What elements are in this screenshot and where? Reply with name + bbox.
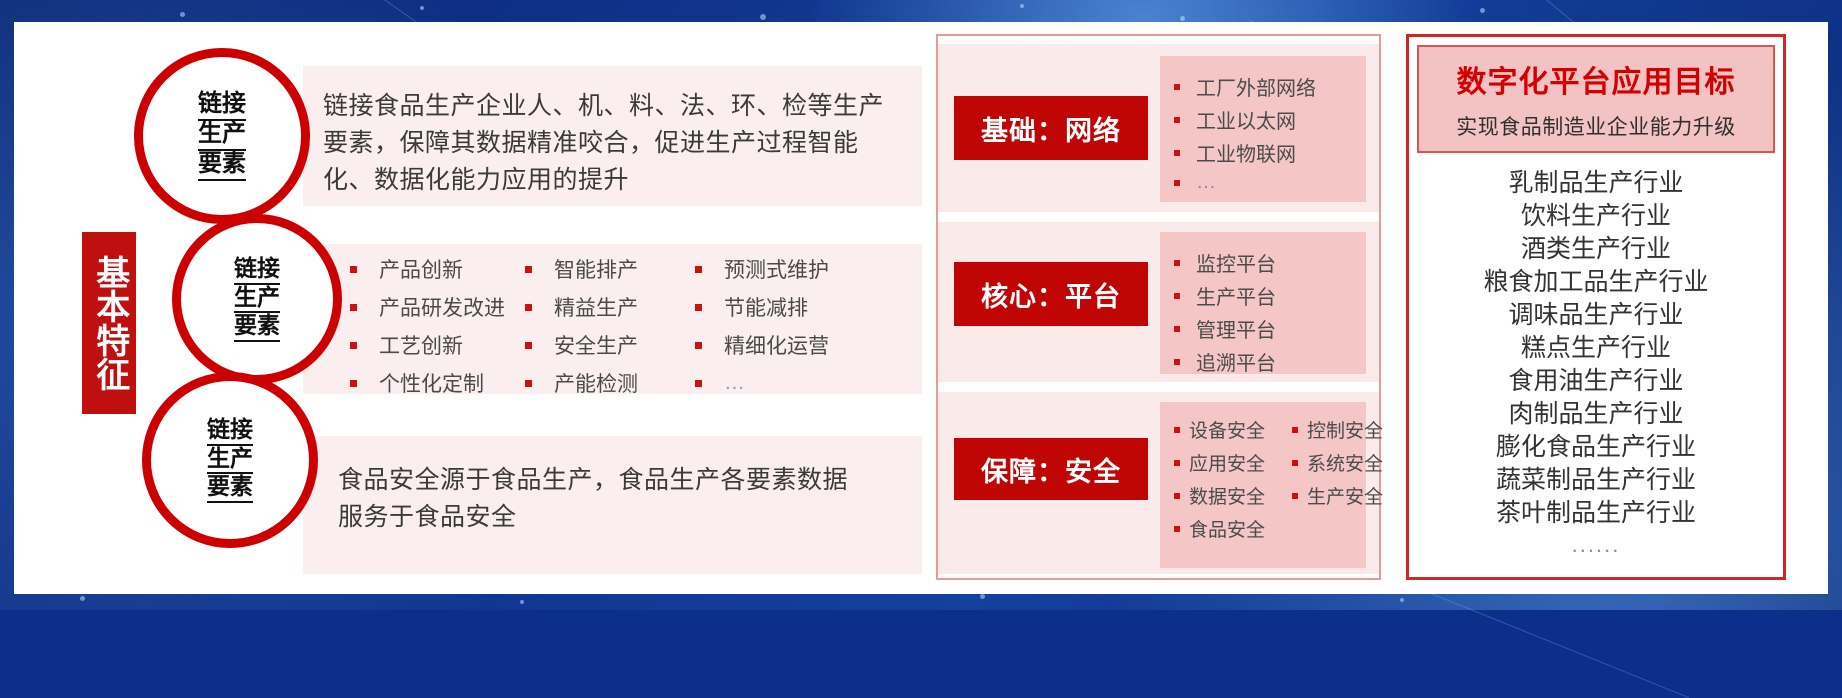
circle-badge-3-line-1: 链接	[207, 417, 253, 446]
list-item: 膨化食品生产行业	[1496, 431, 1696, 464]
circle-badge-1: 链接 生产 要素	[134, 48, 310, 224]
list-item: 生产平台	[1174, 281, 1358, 310]
list-item: 应用安全	[1174, 449, 1292, 476]
list-item-label: 产品研发改进	[379, 292, 505, 322]
bullet-dot-icon	[1174, 326, 1180, 332]
bullet-dot-icon	[350, 342, 357, 349]
list-item: 蔬菜制品生产行业	[1496, 464, 1696, 497]
list-item-label: 数据安全	[1189, 482, 1265, 509]
list-item: 数据安全	[1174, 482, 1292, 509]
bullet-dot-icon	[350, 266, 357, 273]
bullet-dot-icon	[350, 304, 357, 311]
bullet-dot-icon	[695, 380, 702, 387]
list-item: 精益生产	[525, 292, 695, 322]
list-item: 控制安全	[1292, 416, 1400, 443]
paragraph-production-elements: 链接食品生产企业人、机、料、法、环、检等生产要素，保障其数据精准咬合，促进生产过…	[323, 88, 903, 199]
circle-badge-3: 链接 生产 要素	[142, 372, 318, 548]
list-item: 精细化运营	[695, 330, 880, 360]
bullet-dot-icon	[1174, 359, 1180, 365]
bullet-dot-icon	[1174, 84, 1180, 90]
circle-badge-2-line-2: 生产	[234, 285, 280, 314]
bullet-dot-icon	[525, 304, 532, 311]
page-title: 数字化平台应用目标	[1457, 57, 1736, 101]
list-item-label: 节能减排	[724, 292, 808, 322]
circle-badge-1-line-2: 生产	[198, 121, 246, 151]
bullet-dot-icon	[1292, 460, 1298, 466]
list-item: 管理平台	[1174, 314, 1358, 343]
label-platform: 核心：平台	[954, 262, 1148, 326]
label-security: 保障：安全	[954, 438, 1148, 500]
list-item: 乳制品生产行业	[1508, 167, 1683, 200]
list-item: 调味品生产行业	[1508, 299, 1683, 332]
paragraph-food-safety: 食品安全源于食品生产，食品生产各要素数据服务于食品安全	[338, 462, 858, 536]
application-goal-subtitle: 实现食品制造业企业能力升级	[1456, 111, 1736, 141]
bullet-dot-icon	[695, 304, 702, 311]
network-item-list: 工厂外部网络 工业以太网 工业物联网 …	[1160, 56, 1366, 202]
security-item-list: 设备安全 控制安全 应用安全 系统安全 数据安全 生产安全 食品安全	[1160, 402, 1366, 568]
bullet-dot-icon	[525, 380, 532, 387]
industry-list: 乳制品生产行业 饮料生产行业 酒类生产行业 粮食加工品生产行业 调味品生产行业 …	[1417, 161, 1775, 565]
list-item-label: 产能检测	[554, 368, 638, 398]
capability-bullet-grid: 产品创新 智能排产 预测式维护 产品研发改进 精益生产 节能减排 工艺创新 安全…	[350, 254, 910, 398]
circle-badge-3-line-2: 生产	[207, 446, 253, 475]
list-item-label: 追溯平台	[1196, 347, 1276, 376]
bullet-dot-icon	[1292, 493, 1298, 499]
list-item-label: 精益生产	[554, 292, 638, 322]
list-item: 安全生产	[525, 330, 695, 360]
bullet-dot-icon	[1174, 526, 1180, 532]
list-item: 酒类生产行业	[1521, 233, 1671, 266]
list-item-label: 系统安全	[1307, 449, 1383, 476]
list-item-label: 预测式维护	[724, 254, 829, 284]
list-item-label: 工厂外部网络	[1196, 72, 1316, 101]
circle-badge-1-line-3: 要素	[198, 151, 246, 181]
list-item-label: 生产安全	[1307, 482, 1383, 509]
list-item: 粮食加工品生产行业	[1483, 266, 1708, 299]
list-item-label: 控制安全	[1307, 416, 1383, 443]
list-item: 追溯平台	[1174, 347, 1358, 376]
list-item: 生产安全	[1292, 482, 1400, 509]
bullet-dot-icon	[695, 342, 702, 349]
list-item-label: 食品安全	[1189, 515, 1265, 542]
list-item-label: 安全生产	[554, 330, 638, 360]
list-item: 产能检测	[525, 368, 695, 398]
list-item: 食品安全	[1174, 515, 1292, 542]
list-item-label: 设备安全	[1189, 416, 1265, 443]
list-item-label: …	[1196, 171, 1216, 194]
list-item: 智能排产	[525, 254, 695, 284]
bullet-dot-icon	[525, 266, 532, 273]
list-item: …	[1174, 171, 1358, 194]
list-item: 产品创新	[350, 254, 525, 284]
list-item: 预测式维护	[695, 254, 880, 284]
list-item: 个性化定制	[350, 368, 525, 398]
list-item-label: 工业物联网	[1196, 138, 1296, 167]
list-item: 肉制品生产行业	[1508, 398, 1683, 431]
list-item-label: 生产平台	[1196, 281, 1276, 310]
bullet-dot-icon	[350, 380, 357, 387]
list-item: 系统安全	[1292, 449, 1400, 476]
list-item: 工厂外部网络	[1174, 72, 1358, 101]
list-item: …	[695, 368, 880, 398]
bullet-dot-icon	[1174, 260, 1180, 266]
list-item-label: 工业以太网	[1196, 105, 1296, 134]
list-item-label: 智能排产	[554, 254, 638, 284]
application-goal-panel: 数字化平台应用目标 实现食品制造业企业能力升级 乳制品生产行业 饮料生产行业 酒…	[1406, 34, 1786, 580]
bullet-dot-icon	[1174, 427, 1180, 433]
basic-features-tab: 基本特征	[82, 232, 136, 414]
list-item-label: 个性化定制	[379, 368, 484, 398]
list-item: 设备安全	[1174, 416, 1292, 443]
security-grid: 设备安全 控制安全 应用安全 系统安全 数据安全 生产安全 食品安全	[1174, 414, 1358, 544]
platform-architecture-panel: 基础：网络 核心：平台 保障：安全 工厂外部网络 工业以太网 工业物联网 … 监…	[936, 34, 1381, 580]
bullet-dot-icon	[1174, 150, 1180, 156]
bullet-dot-icon	[1174, 293, 1180, 299]
circle-badge-2-line-1: 链接	[234, 256, 280, 285]
list-item: 产品研发改进	[350, 292, 525, 322]
label-network: 基础：网络	[954, 96, 1148, 160]
list-item-label: 监控平台	[1196, 248, 1276, 277]
list-item-label: 产品创新	[379, 254, 463, 284]
circle-badge-1-line-1: 链接	[198, 91, 246, 121]
slide-card: 基本特征 链接 生产 要素 链接 生产 要素 链接 生产 要素 链接食品生产企业…	[14, 22, 1828, 594]
bullet-dot-icon	[1174, 460, 1180, 466]
list-item: 工业以太网	[1174, 105, 1358, 134]
application-goal-header: 数字化平台应用目标 实现食品制造业企业能力升级	[1417, 45, 1775, 153]
list-item-label: 工艺创新	[379, 330, 463, 360]
bullet-dot-icon	[1174, 493, 1180, 499]
list-item: 茶叶制品生产行业	[1496, 497, 1696, 530]
platform-item-list: 监控平台 生产平台 管理平台 追溯平台	[1160, 232, 1366, 374]
bullet-dot-icon	[525, 342, 532, 349]
circle-badge-2: 链接 生产 要素	[172, 214, 342, 384]
list-item-label: 精细化运营	[724, 330, 829, 360]
bullet-dot-icon	[1292, 427, 1298, 433]
list-item: 食用油生产行业	[1508, 365, 1683, 398]
list-item-label: 应用安全	[1189, 449, 1265, 476]
circle-badge-2-line-3: 要素	[234, 313, 280, 342]
bullet-dot-icon	[695, 266, 702, 273]
list-item: 饮料生产行业	[1521, 200, 1671, 233]
list-item: ......	[1572, 530, 1621, 559]
list-item-label: 管理平台	[1196, 314, 1276, 343]
list-item: 节能减排	[695, 292, 880, 322]
left-panel: 基本特征 链接 生产 要素 链接 生产 要素 链接 生产 要素 链接食品生产企业…	[60, 36, 922, 576]
list-item: 工业物联网	[1174, 138, 1358, 167]
bullet-dot-icon	[1174, 117, 1180, 123]
circle-badge-3-line-3: 要素	[207, 474, 253, 503]
list-item: 工艺创新	[350, 330, 525, 360]
list-item: 监控平台	[1174, 248, 1358, 277]
bullet-dot-icon	[1174, 180, 1180, 186]
list-item-label: …	[724, 371, 745, 395]
list-item: 糕点生产行业	[1521, 332, 1671, 365]
